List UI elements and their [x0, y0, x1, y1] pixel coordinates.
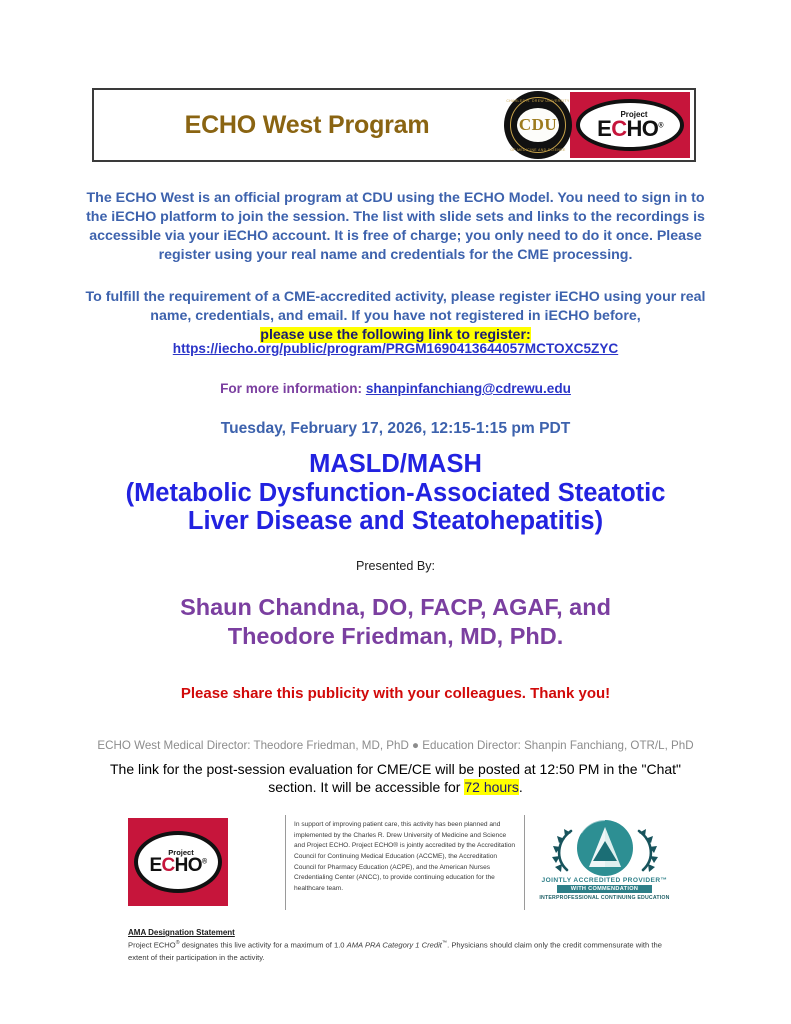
session-title-line-2: (Metabolic Dysfunction-Associated Steato… [126, 479, 666, 507]
ama-credit-italic: AMA PRA Category 1 Credit [347, 941, 442, 950]
echo-wordmark: ECHO® [597, 118, 663, 140]
ama-text-part-1: Project ECHO [128, 941, 176, 950]
project-echo-logo-footer-icon: Project ECHO® [128, 818, 228, 906]
seal-subtitle-text: INTERPROFESSIONAL CONTINUING EDUCATION [539, 895, 669, 901]
echo-letter-c-footer: C [162, 855, 175, 876]
echo-wordmark-footer: ECHO® [149, 856, 206, 875]
echo-letters-ho: HO [627, 116, 659, 141]
presenter-names: Shaun Chandna, DO, FACP, AGAF, and Theod… [60, 593, 731, 652]
cme-registration-text: To fulfill the requirement of a CME-accr… [86, 289, 706, 324]
ama-designation-heading: AMA Designation Statement [128, 928, 678, 937]
jointly-accredited-seal-icon: JOINTLY ACCREDITED PROVIDER™ WITH COMMEN… [536, 817, 673, 909]
project-echo-logo-icon: Project ECHO® [570, 92, 690, 158]
evaluation-text-after: . [519, 779, 523, 795]
more-information-line: For more information: shanpinfanchiang@c… [80, 380, 711, 398]
presented-by-label: Presented By: [80, 558, 711, 575]
header-banner: ECHO West Program CHARLES R. DREW UNIVER… [92, 88, 696, 162]
accreditation-row: Project ECHO® In support of improving pa… [128, 815, 673, 910]
seal-graphic [541, 817, 669, 879]
echo-oval-footer: Project ECHO® [134, 831, 222, 893]
register-url-line: https://iecho.org/public/program/PRGM169… [80, 340, 711, 358]
presenter-line-2: Theodore Friedman, MD, PhD. [228, 623, 564, 649]
contact-email-link[interactable]: shanpinfanchiang@cdrewu.edu [366, 381, 571, 396]
ama-text-part-2: designates this live activity for a maxi… [180, 941, 347, 950]
share-notice: Please share this publicity with your co… [80, 684, 711, 704]
evaluation-notice: The link for the post-session evaluation… [95, 761, 696, 797]
cme-registration-paragraph: To fulfill the requirement of a CME-accr… [80, 288, 711, 345]
echo-letter-e-footer: E [149, 855, 161, 876]
cdu-ring-top-text: CHARLES R. DREW UNIVERSITY [506, 99, 569, 103]
session-title-line-1: MASLD/MASH [309, 450, 482, 478]
cdu-logo-icon: CHARLES R. DREW UNIVERSITY OF MEDICINE A… [504, 91, 572, 159]
session-date-time: Tuesday, February 17, 2026, 12:15-1:15 p… [80, 419, 711, 440]
echo-letter-c: C [611, 116, 626, 141]
cdu-seal-inner: CDU [517, 108, 559, 142]
accreditation-statement: In support of improving patient care, th… [285, 815, 525, 910]
echo-registered-mark: ® [658, 122, 663, 129]
echo-registered-mark-footer: ® [202, 858, 207, 865]
directors-line: ECHO West Medical Director: Theodore Fri… [80, 738, 711, 753]
session-title: MASLD/MASH (Metabolic Dysfunction-Associ… [60, 450, 731, 536]
more-information-label: For more information: [220, 381, 362, 396]
session-title-line-3: Liver Disease and Steatohepatitis) [188, 507, 603, 535]
evaluation-text-before: The link for the post-session evaluation… [110, 761, 681, 795]
register-url-link[interactable]: https://iecho.org/public/program/PRGM169… [173, 341, 618, 356]
evaluation-duration-highlight: 72 hours [464, 779, 518, 795]
intro-paragraph: The ECHO West is an official program at … [80, 189, 711, 265]
cdu-logo-text: CDU [519, 115, 557, 135]
echo-oval: Project ECHO® [576, 99, 684, 151]
page-title: ECHO West Program [94, 111, 504, 140]
ama-designation-block: AMA Designation Statement Project ECHO® … [128, 928, 678, 965]
header-logo-group: CHARLES R. DREW UNIVERSITY OF MEDICINE A… [504, 90, 694, 160]
ama-designation-text: Project ECHO® designates this live activ… [128, 939, 678, 965]
echo-letters-ho-footer: HO [175, 855, 202, 876]
presenter-line-1: Shaun Chandna, DO, FACP, AGAF, and [180, 594, 611, 620]
seal-commendation-text: WITH COMMENDATION [557, 885, 652, 893]
cdu-ring-bottom-text: OF MEDICINE AND SCIENCE [510, 148, 565, 152]
echo-letter-e: E [597, 116, 611, 141]
